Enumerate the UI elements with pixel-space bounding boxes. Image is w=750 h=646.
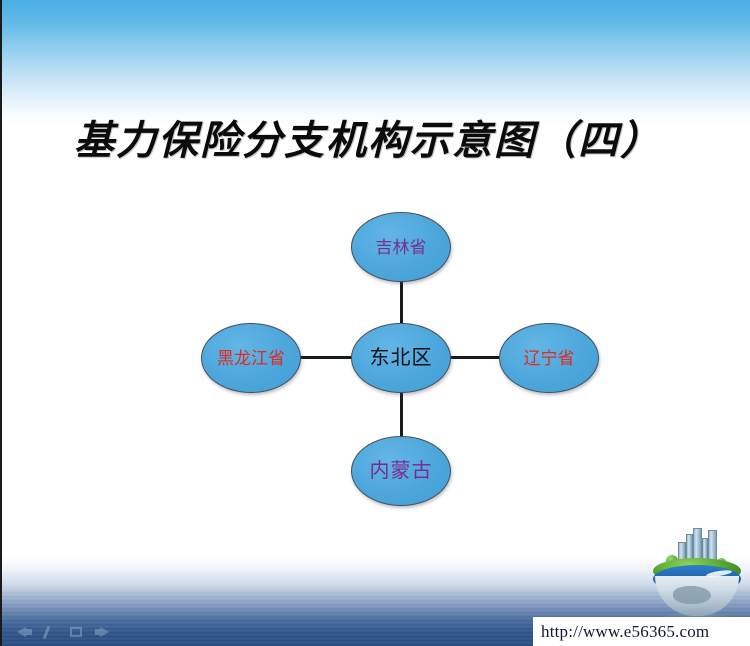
diagram-node-jilin[interactable]: 吉林省 [351,212,451,282]
org-structure-diagram: 吉林省 黑龙江省 东北区 辽宁省 内蒙古 [2,0,750,646]
diagram-node-heilongjiang[interactable]: 黑龙江省 [201,323,301,393]
previous-slide-icon[interactable] [16,625,33,640]
globe-continent [673,586,711,604]
next-slide-icon[interactable] [94,625,111,640]
earth-city-globe-logo [650,524,744,618]
diagram-node-liaoning[interactable]: 辽宁省 [499,323,599,393]
pen-annotation-icon[interactable] [42,625,59,640]
diagram-node-inner-mongolia[interactable]: 内蒙古 [351,436,451,506]
globe-ice-base [655,576,739,616]
diagram-node-jilin-label: 吉林省 [376,239,427,256]
slideshow-nav-controls[interactable] [16,625,111,640]
diagram-node-liaoning-label: 辽宁省 [524,350,575,367]
site-url: http://www.e56365.com [541,622,709,642]
connector-center-left [292,356,360,359]
diagram-node-inner-mongolia-label: 内蒙古 [370,461,433,481]
presentation-slide: 基力保险分支机构示意图（四） 吉林省 黑龙江省 东北区 辽宁省 内蒙古 [0,0,750,646]
diagram-node-northeast-region-label: 东北区 [370,348,433,368]
diagram-node-northeast-region[interactable]: 东北区 [351,323,451,393]
url-watermark-bar: http://www.e56365.com [533,617,750,646]
slide-menu-icon[interactable] [68,625,85,640]
diagram-node-heilongjiang-label: 黑龙江省 [217,350,285,367]
